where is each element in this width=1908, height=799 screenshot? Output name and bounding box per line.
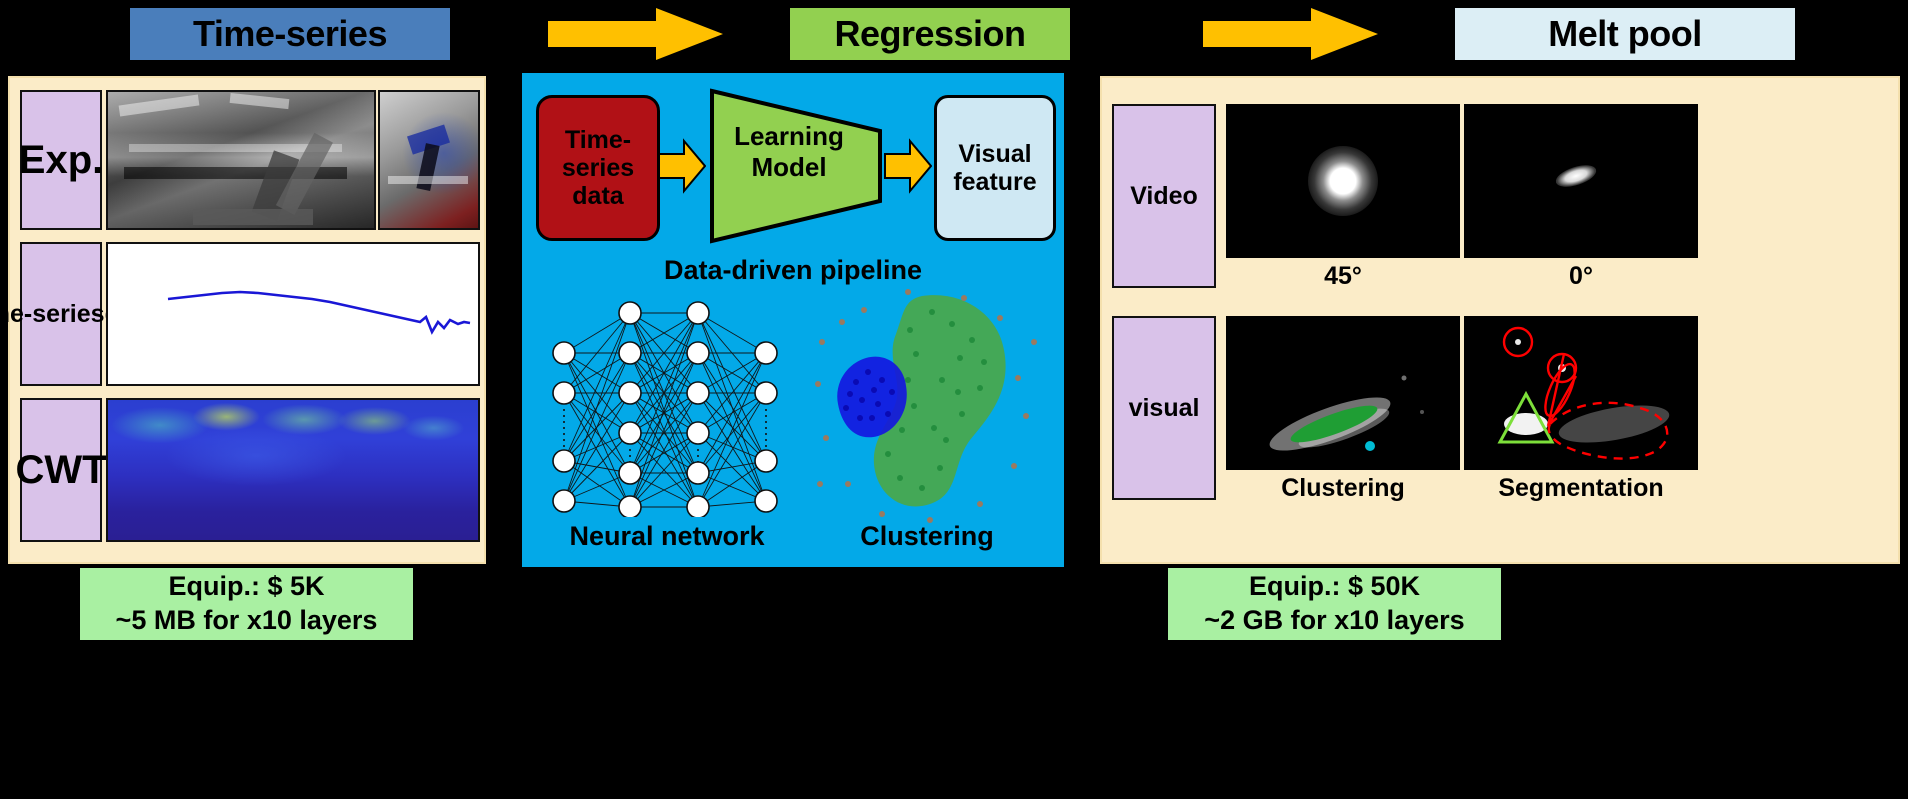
melt-pool-clustering-image	[1226, 316, 1460, 470]
experiment-photo-nozzle	[378, 90, 480, 230]
caption-0-degrees: 0°	[1464, 262, 1698, 291]
melt-pool-segmentation-image	[1464, 316, 1698, 470]
row-label-experiment: Exp.	[20, 90, 102, 230]
banner-time-series: Time-series	[130, 8, 450, 60]
output-line2: feature	[953, 168, 1036, 196]
row-label-ts-line1: Time-	[0, 301, 32, 327]
pipeline-input-time-series-data: Time- series data	[536, 95, 660, 241]
pipeline-arrow-1-icon	[658, 138, 706, 194]
time-series-line-chart	[106, 242, 480, 386]
output-line1: Visual	[958, 140, 1031, 168]
input-line3: data	[572, 182, 623, 210]
cost-right-line2: ~2 GB for x10 layers	[1204, 604, 1464, 638]
row-label-ts-line2: series	[32, 301, 104, 327]
neural-network-diagram	[542, 297, 792, 517]
pipeline-arrow-2-icon	[884, 138, 932, 194]
pipeline-output-visual-feature: Visual feature	[934, 95, 1056, 241]
input-line2: series	[562, 154, 634, 182]
model-line1: Learning	[734, 121, 844, 151]
middle-panel-regression: Time- series data Learning Model Visual …	[522, 73, 1064, 567]
row-label-video: Video	[1112, 104, 1216, 288]
flow-arrow-1-icon	[548, 8, 723, 60]
pipeline-caption: Data-driven pipeline	[522, 255, 1064, 286]
left-panel-time-series: Exp. Time- series data CWT	[8, 76, 486, 564]
flow-arrow-2-icon	[1203, 8, 1378, 60]
clustering-overlay	[1226, 316, 1460, 470]
row-label-visual: visual	[1112, 316, 1216, 500]
cost-box-melt-pool: Equip.: $ 50K ~2 GB for x10 layers	[1168, 568, 1501, 640]
segmentation-overlay	[1464, 316, 1698, 470]
input-line1: Time-	[565, 126, 631, 154]
row-label-time-series-data: Time- series data	[20, 242, 102, 386]
banner-regression: Regression	[790, 8, 1070, 60]
caption-clustering: Clustering	[1212, 474, 1474, 503]
clustering-label: Clustering	[822, 521, 1032, 552]
diagram-canvas: Time-series Regression Melt pool Exp. Ti…	[0, 0, 1908, 799]
row-label-cwt: CWT	[20, 398, 102, 542]
caption-segmentation: Segmentation	[1460, 474, 1702, 503]
banner-melt-pool: Melt pool	[1455, 8, 1795, 60]
right-panel-melt-pool: Video 45° 0° visual	[1100, 76, 1900, 564]
clustering-scatter-plot	[812, 288, 1042, 524]
cwt-heatmap	[106, 398, 480, 542]
cost-left-line2: ~5 MB for x10 layers	[116, 604, 378, 638]
cost-left-line1: Equip.: $ 5K	[168, 570, 324, 604]
cost-right-line1: Equip.: $ 50K	[1249, 570, 1420, 604]
neural-network-label: Neural network	[532, 521, 802, 552]
melt-pool-video-0deg	[1464, 104, 1698, 258]
melt-pool-video-45deg	[1226, 104, 1460, 258]
cost-box-time-series: Equip.: $ 5K ~5 MB for x10 layers	[80, 568, 413, 640]
experiment-photo-chamber	[106, 90, 376, 230]
learning-model-label: Learning Model	[714, 121, 864, 183]
caption-45-degrees: 45°	[1226, 262, 1460, 291]
time-series-svg	[108, 244, 480, 386]
model-line2: Model	[751, 152, 826, 182]
